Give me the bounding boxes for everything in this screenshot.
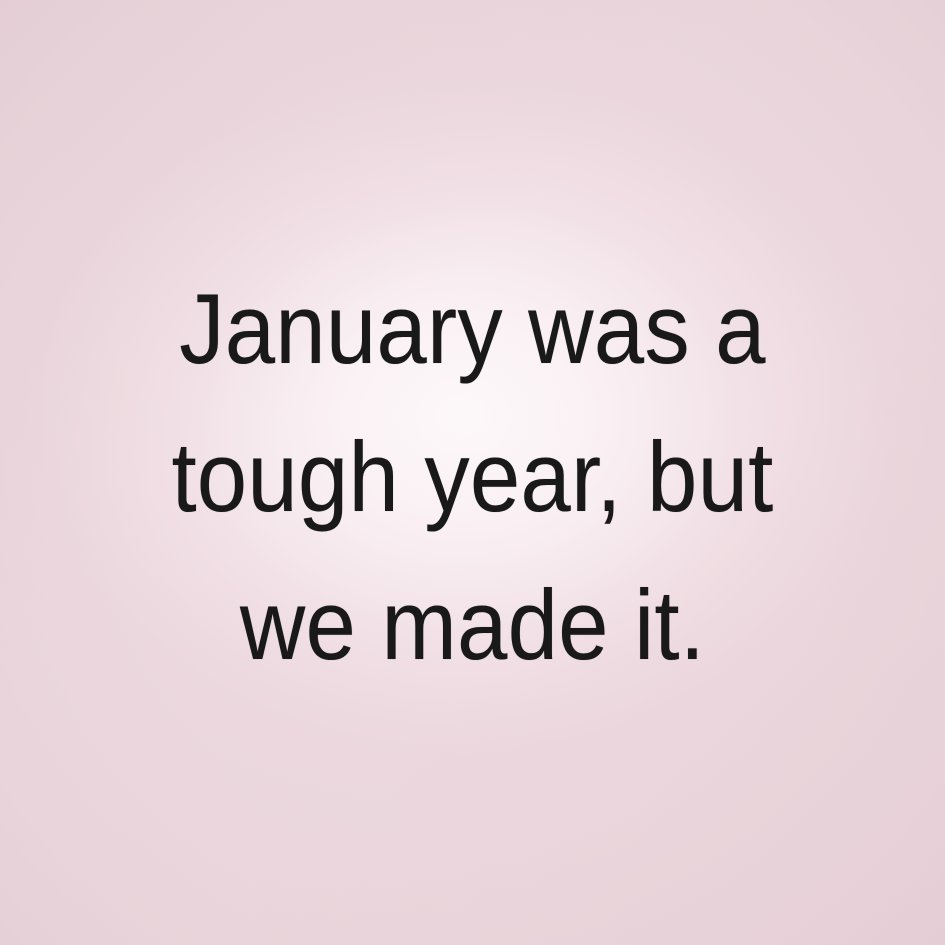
quote-line-1: January was a: [40, 255, 905, 403]
quote-line-2: tough year, but: [40, 403, 905, 551]
quote-line-3: we made it.: [40, 551, 905, 699]
quote-image-card: January was a tough year, but we made it…: [0, 0, 945, 945]
quote-text-block: January was a tough year, but we made it…: [0, 0, 945, 945]
